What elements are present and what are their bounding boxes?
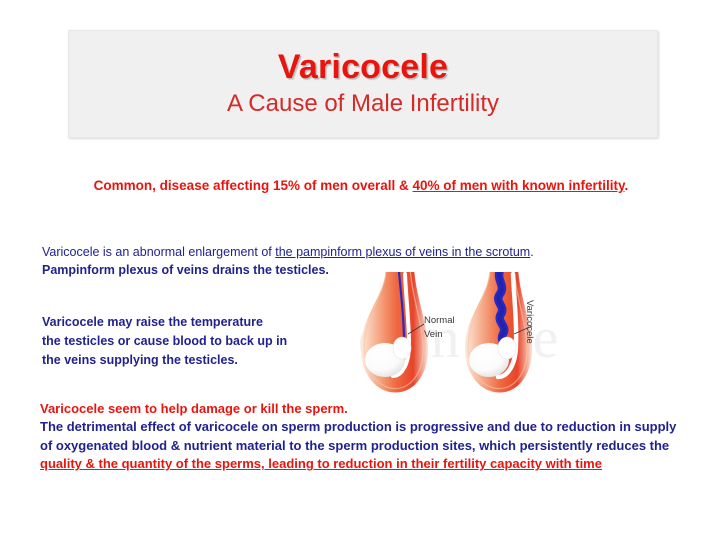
normal-vein-label-line2: Vein: [424, 328, 455, 342]
lead-text-after: .: [625, 178, 629, 193]
page-subtitle: A Cause of Male Infertility: [227, 91, 499, 117]
temperature-paragraph: Varicocele may raise the temperature the…: [42, 313, 362, 369]
bottom-heading: Varicocele seem to help damage or kill t…: [40, 400, 688, 418]
temperature-line-1: Varicocele may raise the temperature: [42, 313, 362, 332]
varicocele-label: Varicocele: [524, 300, 535, 344]
definition-text-underlined: the pampinform plexus of veins in the sc…: [275, 245, 530, 259]
normal-vein-label-line1: Normal: [424, 314, 455, 328]
page-title: Varicocele: [278, 50, 448, 86]
anatomy-illustration-svg: [352, 272, 570, 402]
definition-line-1: Varicocele is an abnormal enlargement of…: [42, 243, 642, 261]
lead-text-before: Common, disease affecting 15% of men ove…: [94, 178, 413, 193]
title-panel: Varicocele A Cause of Male Infertility: [68, 30, 658, 138]
epididymis-head: [498, 337, 516, 359]
epididymis-head: [393, 337, 411, 359]
bottom-body-underlined: quality & the quantity of the sperms, le…: [40, 456, 602, 471]
definition-term-bold: Pampinform plexus of veins: [42, 263, 209, 277]
bottom-paragraph: Varicocele seem to help damage or kill t…: [40, 400, 688, 474]
temperature-line-3: the veins supplying the testicles.: [42, 351, 362, 370]
temperature-line-2: the testicles or cause blood to back up …: [42, 332, 362, 351]
lead-text-underlined: 40% of men with known infertility: [413, 178, 625, 193]
bottom-body: The detrimental effect of varicocele on …: [40, 418, 688, 473]
definition-text-before: Varicocele is an abnormal enlargement of: [42, 245, 275, 259]
normal-vein-label: Normal Vein: [424, 314, 455, 343]
definition-text-after: .: [530, 245, 533, 259]
bottom-body-before: The detrimental effect of varicocele on …: [40, 419, 676, 452]
normal-testicle-illustration: [361, 272, 428, 393]
lead-paragraph: Common, disease affecting 15% of men ove…: [40, 176, 682, 196]
varicocele-diagram: eImage: [352, 272, 570, 402]
varicocele-testicle-illustration: [465, 272, 532, 393]
definition-term-rest: drains the testicles.: [209, 263, 329, 277]
